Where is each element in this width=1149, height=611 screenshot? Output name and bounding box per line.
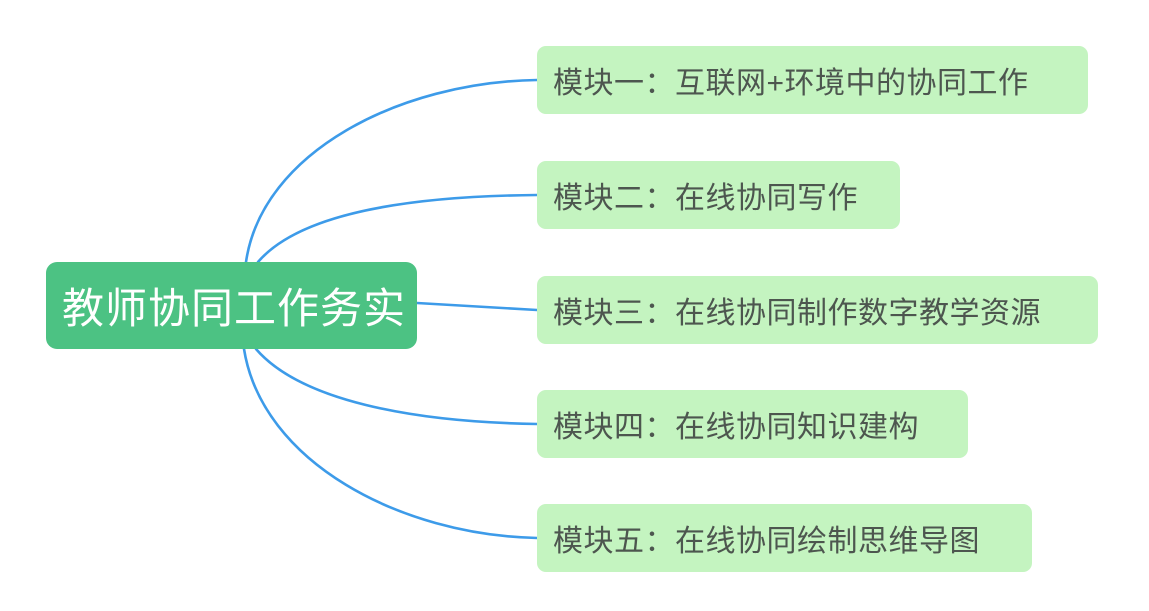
branch-node-module-4[interactable]: 模块四：在线协同知识建构 bbox=[537, 390, 968, 458]
connector-to-module-5 bbox=[244, 349, 537, 538]
branch-node-module-2[interactable]: 模块二：在线协同写作 bbox=[537, 161, 900, 229]
branch-node-module-5[interactable]: 模块五：在线协同绘制思维导图 bbox=[537, 504, 1032, 572]
root-node[interactable]: 教师协同工作务实 bbox=[46, 262, 417, 349]
connector-to-module-2 bbox=[258, 195, 537, 262]
branch-node-label: 模块四：在线协同知识建构 bbox=[553, 402, 919, 446]
connector-to-module-1 bbox=[246, 80, 537, 262]
branch-node-label: 模块二：在线协同写作 bbox=[553, 173, 858, 217]
mind-map-canvas: 教师协同工作务实 模块一：互联网+环境中的协同工作 模块二：在线协同写作 模块三… bbox=[0, 0, 1149, 611]
root-node-label: 教师协同工作务实 bbox=[62, 275, 406, 336]
branch-node-label: 模块五：在线协同绘制思维导图 bbox=[553, 516, 980, 560]
branch-node-label: 模块一：互联网+环境中的协同工作 bbox=[553, 58, 1029, 102]
connector-to-module-3 bbox=[417, 303, 537, 310]
connector-to-module-4 bbox=[256, 349, 537, 424]
branch-node-module-3[interactable]: 模块三：在线协同制作数字教学资源 bbox=[537, 276, 1098, 344]
branch-node-module-1[interactable]: 模块一：互联网+环境中的协同工作 bbox=[537, 46, 1088, 114]
branch-node-label: 模块三：在线协同制作数字教学资源 bbox=[553, 288, 1041, 332]
